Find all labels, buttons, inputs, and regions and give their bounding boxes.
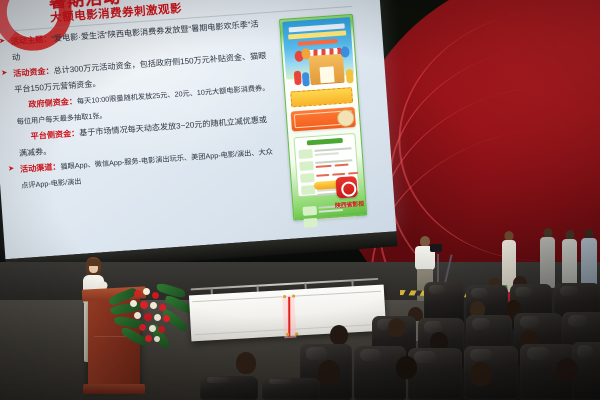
poster-row-key [300,173,315,183]
bullet-label: 活动主题 [11,35,44,46]
seat-highlight [429,285,445,295]
seat-highlight [515,287,532,297]
bullet-label: 活动资金 [13,67,46,78]
standing-man-light-shirt [562,230,577,290]
theater-seat [200,376,258,400]
person-icon [346,69,354,83]
flower-white [143,288,150,295]
bullet-arrow-icon: ➤ [8,165,15,173]
bullet-label: 活动渠道 [20,163,53,174]
bullet-arrow-icon: ➤ [1,69,8,77]
poster-row-value-2 [319,209,343,213]
presentation-slide: 暑期活动 大额电影消费券刺激观影 ➤ 活动主题：“爱电影·爱生活”陕西电影消费券… [0,0,396,259]
photo-scene: 暑期活动 大额电影消费券刺激观影 ➤ 活动主题：“爱电影·爱生活”陕西电影消费券… [0,0,600,400]
slide-body: ➤ 活动主题：“爱电影·爱生活”陕西电影消费券发放暨“暑期电影欢乐季”活动 ➤ … [0,16,276,195]
organizer-logo-icon [335,176,357,198]
standing-man-grey-shirt [540,228,555,288]
standing-man-blue-shirt [581,229,597,291]
poster-row-highlight [332,173,345,176]
poster-row-value [319,216,356,221]
flower-white [154,314,161,321]
poster-badge [298,39,338,46]
seat-highlight [560,286,578,297]
seat-highlight [568,315,587,327]
subbullet-label: 平台侧资金 [30,129,71,141]
flower-white [149,325,156,332]
flower-red [158,326,165,333]
flower-red [145,335,152,342]
audience-head [388,318,405,337]
flower-red [144,313,152,321]
presenter-fringe [86,259,101,266]
cinema-building-icon [309,52,345,84]
white-unveiling-panel [188,277,386,348]
poster-row-highlight [348,172,358,175]
seat-highlight [306,347,327,359]
poster-section-title [307,138,343,146]
podium-base [83,384,145,394]
poster-row-key [298,149,313,159]
poster-row-value-2 [315,152,339,156]
flower-red [159,304,166,311]
poster-info-row [303,214,358,229]
person-body [540,237,555,288]
poster-row-key [303,218,318,228]
theater-seat [262,378,320,400]
ribbon-clip [283,295,286,298]
seat-highlight [577,345,593,358]
audience-head [330,325,348,345]
poster-row-key [299,161,314,171]
poster-row-highlight [316,165,332,168]
audience-head [236,352,256,374]
seat-highlight [360,349,381,361]
audience-head [556,358,578,382]
person-icon [302,72,310,86]
poster-illustration [286,45,353,89]
seat-highlight [207,377,230,382]
audience-head [470,362,492,386]
theater-seat [408,348,462,400]
poster-row-key [302,206,317,216]
ribbon-clip [292,295,295,298]
flower-red [139,324,146,331]
flower-red [163,315,170,322]
seat-highlight [269,379,292,384]
ribbon-clip [295,332,298,335]
flower-arrangement [112,282,194,358]
flower-red [140,301,148,309]
seat-highlight [472,318,490,329]
flower-red [152,292,159,299]
video-camera-icon [430,244,442,252]
seat-highlight [414,351,436,362]
flower-white [154,336,160,342]
audience-head [318,360,340,384]
balloon-icon [340,46,350,58]
seat-highlight [470,349,492,361]
person-icon [294,71,302,85]
flower-white [134,312,141,319]
seat-highlight [520,316,539,328]
poster-coupon-strip [290,87,353,107]
poster-row-highlight [335,164,349,167]
seat-highlight [471,288,488,298]
audience-head [396,356,417,379]
poster-row-highlight [316,174,329,177]
poster-row-value [314,147,351,152]
subbullet-label: 政府侧资金 [28,98,69,110]
red-ribbon [288,297,290,337]
projection-screen: 暑期活动 大额电影消费券刺激观影 ➤ 活动主题：“爱电影·爱生活”陕西电影消费券… [0,0,398,277]
seat-highlight [527,347,549,359]
bullet-arrow-icon: ➤ [0,37,5,45]
flower-red [134,290,141,297]
flower-white [150,302,157,309]
panel-surface [189,285,386,342]
ribbon-clip [286,333,289,336]
flower-white [130,300,137,307]
seat-highlight [424,321,442,332]
